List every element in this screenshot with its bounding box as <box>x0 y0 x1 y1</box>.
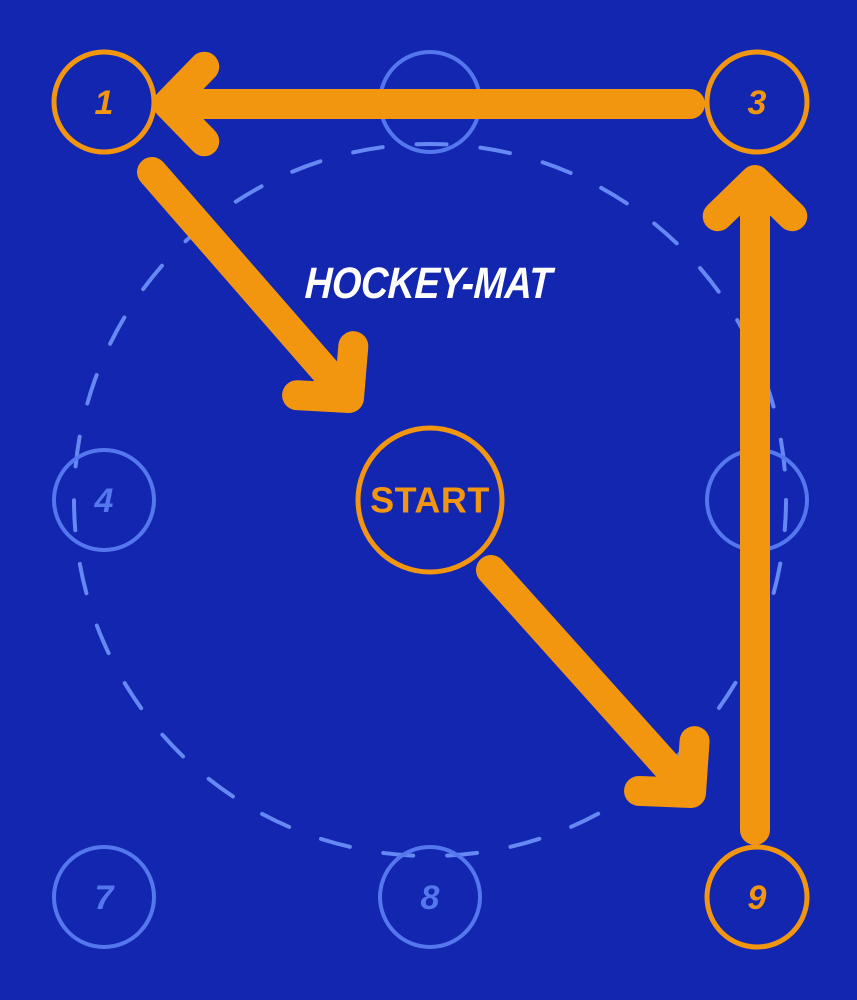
grid-node-1[interactable]: 1 <box>54 52 154 152</box>
drill-diagram-canvas: 24678 13START9 HOCKEY-MAT <box>0 0 857 1000</box>
node-label-3: 3 <box>748 84 767 122</box>
node-label-1: 1 <box>95 84 114 122</box>
diagram-active-nodes-layer: 13START9 <box>0 0 857 1000</box>
grid-node-5[interactable]: START <box>358 428 502 572</box>
grid-node-9[interactable]: 9 <box>707 847 807 947</box>
start-node-label: START <box>370 480 490 521</box>
grid-node-3[interactable]: 3 <box>707 52 807 152</box>
node-label-9: 9 <box>748 879 767 917</box>
